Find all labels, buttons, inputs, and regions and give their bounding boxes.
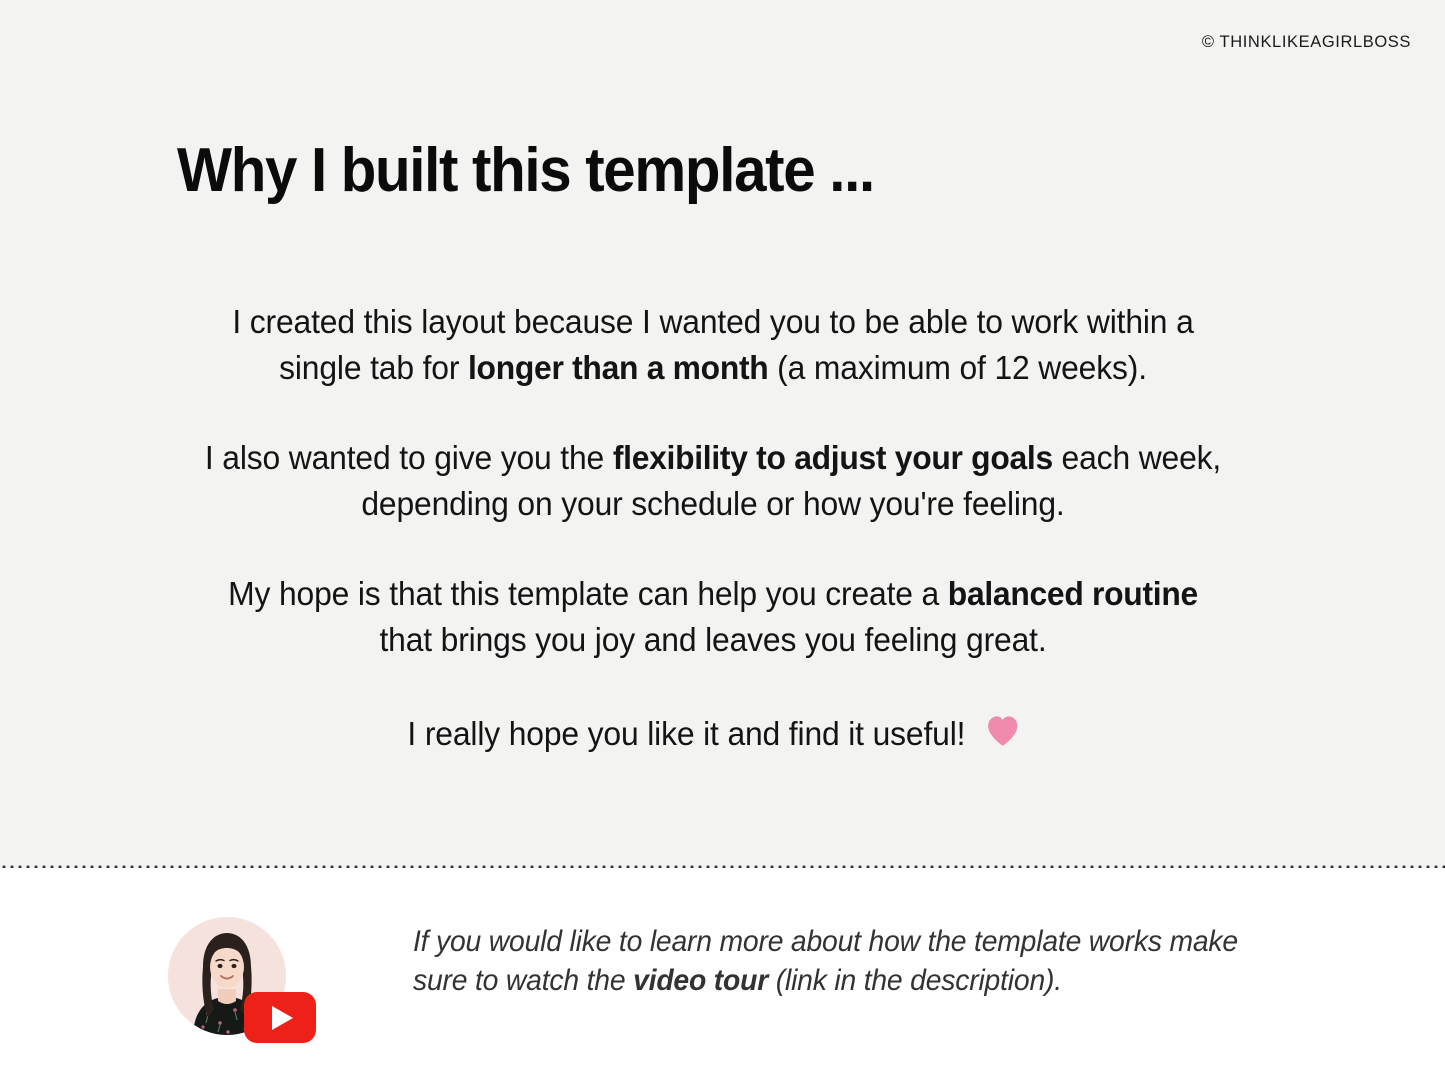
plain-text: My hope is that this template can help y…: [228, 576, 948, 613]
page-title: Why I built this template ...: [177, 140, 874, 202]
plain-text: (a maximum of 12 weeks).: [768, 350, 1146, 387]
emphasis-text: flexibility to adjust your goals: [613, 440, 1053, 477]
footer-row: If you would like to learn more about ho…: [168, 917, 1313, 1035]
emphasis-text: longer than a month: [468, 350, 768, 387]
paragraph-4: I really hope you like it and find it us…: [199, 712, 1227, 758]
avatar-with-youtube-badge[interactable]: [168, 917, 286, 1035]
play-triangle-icon: [272, 1006, 293, 1030]
body-text-block: I created this layout because I wanted y…: [172, 300, 1254, 758]
paragraph-1: I created this layout because I wanted y…: [199, 300, 1227, 392]
youtube-play-icon[interactable]: [244, 992, 316, 1043]
footer-description: If you would like to learn more about ho…: [413, 917, 1277, 1000]
top-content-panel: © THINKLIKEAGIRLBOSS Why I built this te…: [0, 0, 1445, 868]
slide-root: © THINKLIKEAGIRLBOSS Why I built this te…: [0, 0, 1445, 1084]
emphasis-text: balanced routine: [948, 576, 1198, 613]
paragraph-2: I also wanted to give you the flexibilit…: [199, 436, 1227, 528]
bottom-footer-panel: If you would like to learn more about ho…: [0, 868, 1445, 1084]
copyright-notice: © THINKLIKEAGIRLBOSS: [1202, 33, 1411, 52]
plain-text: I really hope you like it and find it us…: [407, 716, 965, 753]
emphasis-text: video tour: [633, 964, 768, 997]
plain-text: that brings you joy and leaves you feeli…: [379, 622, 1046, 659]
plain-text: I also wanted to give you the: [205, 440, 613, 477]
heart-icon: [986, 715, 1018, 747]
plain-text: (link in the description).: [768, 964, 1062, 997]
paragraph-3: My hope is that this template can help y…: [199, 572, 1227, 664]
